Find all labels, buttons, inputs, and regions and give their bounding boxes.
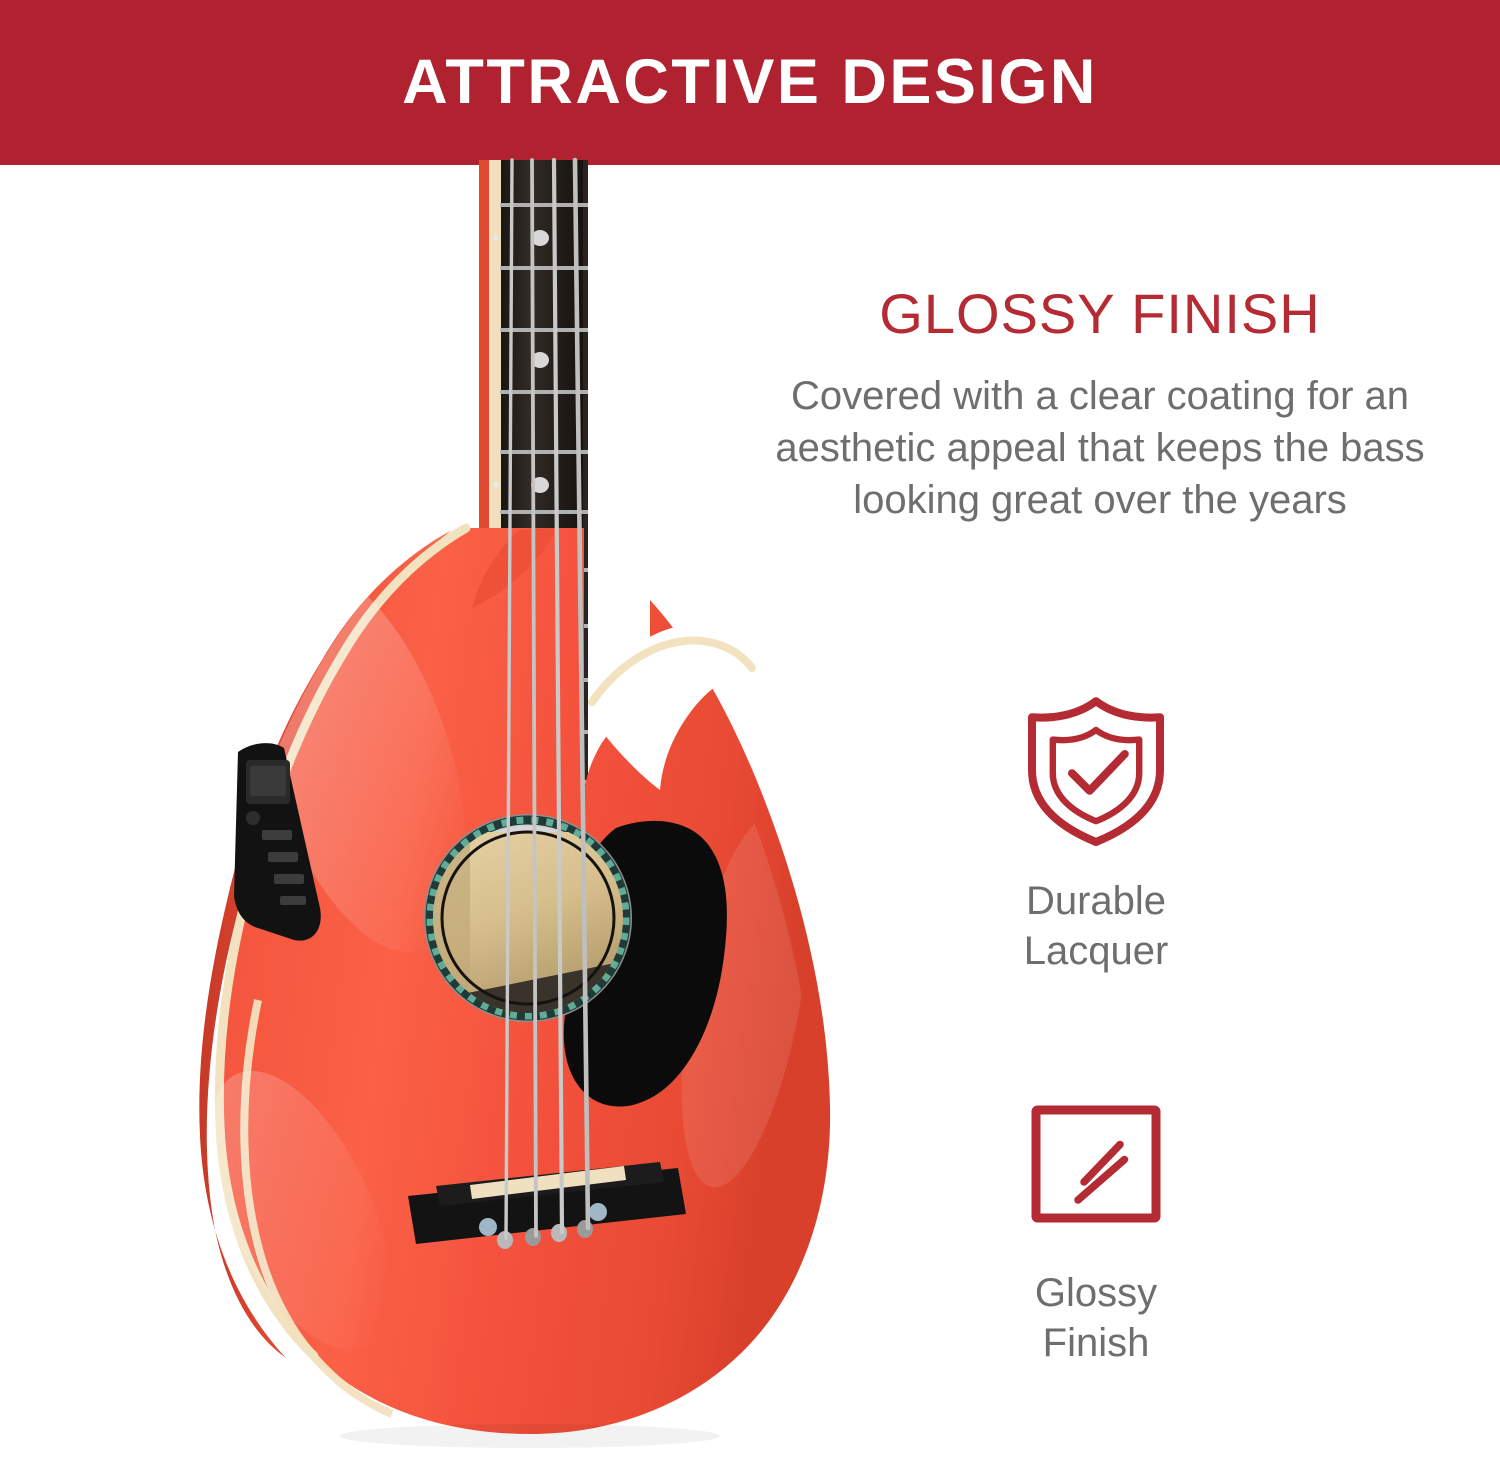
product-image — [0, 0, 900, 1461]
shield-check-icon — [1016, 690, 1176, 850]
bass-guitar-illustration — [0, 0, 900, 1461]
product-feature-page: ATTRACTIVE DESIGN — [0, 0, 1500, 1461]
glossy-shine-square-icon — [1021, 1092, 1171, 1242]
feature-glossy-finish: Glossy Finish — [886, 1092, 1306, 1369]
feature-durable-lacquer: Durable Lacquer — [886, 690, 1306, 977]
copy-body: Covered with a clear coating for an aest… — [700, 370, 1500, 526]
drop-shadow — [340, 1424, 720, 1448]
bridge-bolt — [589, 1203, 607, 1221]
feature-label: Durable Lacquer — [1024, 876, 1169, 977]
copy-block: GLOSSY FINISH Covered with a clear coati… — [700, 285, 1500, 526]
copy-heading: GLOSSY FINISH — [700, 285, 1500, 344]
preamp-knob[interactable] — [246, 811, 260, 825]
sound-hole — [425, 815, 631, 1021]
bridge-bolt — [479, 1218, 497, 1236]
feature-label: Glossy Finish — [1035, 1268, 1157, 1369]
